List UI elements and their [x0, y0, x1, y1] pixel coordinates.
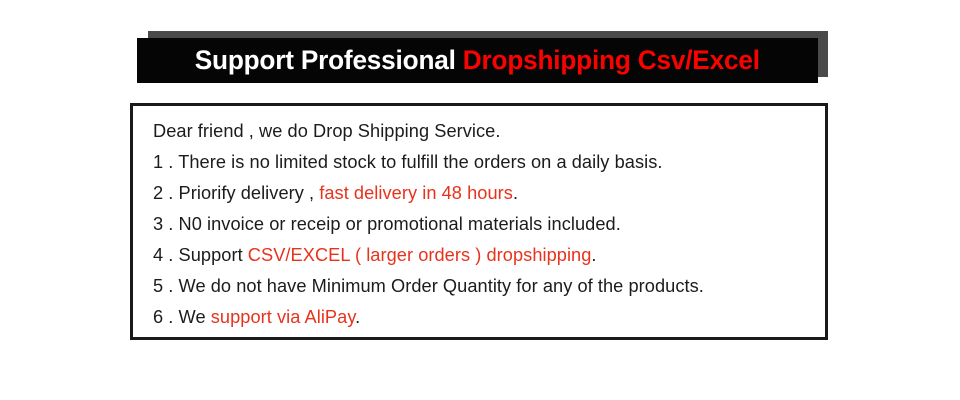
info-line-list: Dear friend , we do Drop Shipping Servic…	[153, 115, 817, 332]
banner-title-white: Support Professional	[195, 45, 463, 75]
info-text-plain: 5 . We do not have Minimum Order Quantit…	[153, 275, 704, 296]
info-line-item-2: 2 . Priorify delivery , fast delivery in…	[153, 177, 807, 208]
info-text-plain: 4 . Support	[153, 244, 248, 265]
info-text-plain: 1 . There is no limited stock to fulfill…	[153, 151, 662, 172]
info-text-accent: fast delivery in 48 hours	[319, 182, 513, 203]
info-line-item-6: 6 . We support via AliPay.	[153, 301, 807, 332]
clipped-next-section	[130, 368, 830, 400]
info-box: Dear friend , we do Drop Shipping Servic…	[130, 103, 828, 340]
clipped-next-section-row	[130, 368, 830, 398]
info-text-plain: 3 . N0 invoice or receip or promotional …	[153, 213, 621, 234]
banner-title: Support Professional Dropshipping Csv/Ex…	[195, 47, 760, 74]
info-text-plain: .	[591, 244, 596, 265]
banner-title-red: Dropshipping Csv/Excel	[463, 45, 760, 75]
info-text-plain: 2 . Priorify delivery ,	[153, 182, 319, 203]
info-text-plain: .	[355, 306, 360, 327]
info-text-accent: CSV/EXCEL ( larger orders ) dropshipping	[248, 244, 592, 265]
dropshipping-info-panel: Support Professional Dropshipping Csv/Ex…	[0, 0, 960, 400]
info-line-item-4: 4 . Support CSV/EXCEL ( larger orders ) …	[153, 239, 807, 270]
banner-bar: Support Professional Dropshipping Csv/Ex…	[137, 38, 818, 83]
info-line-item-1: 1 . There is no limited stock to fulfill…	[153, 146, 807, 177]
info-line-greeting: Dear friend , we do Drop Shipping Servic…	[153, 115, 807, 146]
info-text-plain: Dear friend , we do Drop Shipping Servic…	[153, 120, 500, 141]
banner-header: Support Professional Dropshipping Csv/Ex…	[137, 31, 828, 83]
info-line-item-3: 3 . N0 invoice or receip or promotional …	[153, 208, 807, 239]
info-text-plain: 6 . We	[153, 306, 211, 327]
info-text-plain: .	[513, 182, 518, 203]
info-line-item-5: 5 . We do not have Minimum Order Quantit…	[153, 270, 807, 301]
info-text-accent: support via AliPay	[211, 306, 355, 327]
